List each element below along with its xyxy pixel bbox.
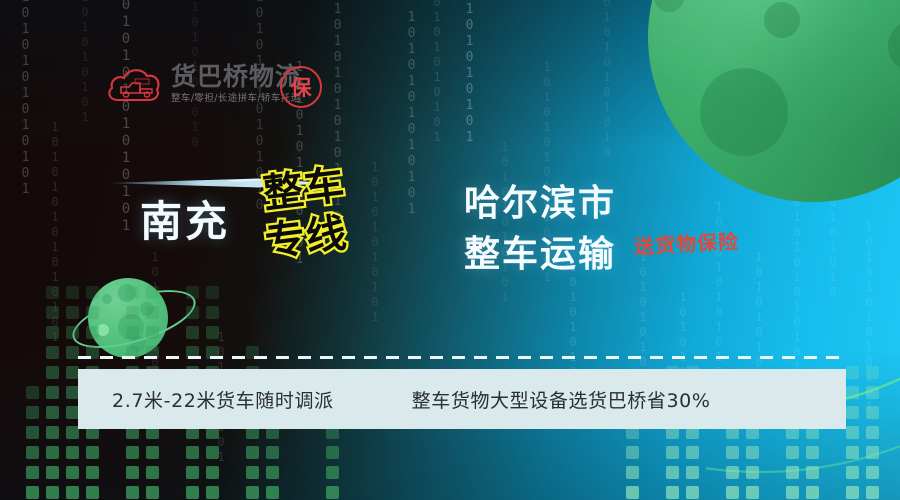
- destination-city: 哈尔滨市: [464, 178, 616, 229]
- grid-square: [126, 306, 139, 319]
- grid-square: [866, 366, 879, 379]
- grid-square: [846, 486, 859, 499]
- grid-square: [86, 486, 99, 499]
- route-badge-line2: 专线: [263, 210, 350, 266]
- grid-square: [206, 446, 219, 459]
- grid-square: [46, 486, 59, 499]
- grid-square: [206, 306, 219, 319]
- grid-square: [246, 486, 259, 499]
- insurance-note: 送货物保险: [633, 225, 739, 259]
- grid-square: [126, 446, 139, 459]
- grid-square: [726, 446, 739, 459]
- grid-square: [86, 446, 99, 459]
- grid-square: [726, 486, 739, 499]
- grid-square: [326, 446, 339, 459]
- grid-square: [786, 486, 799, 499]
- grid-square: [66, 446, 79, 459]
- grid-square: [46, 426, 59, 439]
- grid-square: [686, 486, 699, 499]
- grid-square: [66, 486, 79, 499]
- grid-square: [266, 466, 279, 479]
- grid-square: [46, 286, 59, 299]
- grid-square: [86, 326, 99, 339]
- grid-square: [66, 326, 79, 339]
- grid-square: [666, 466, 679, 479]
- destination-service: 整车运输: [464, 229, 616, 280]
- grid-square: [266, 486, 279, 499]
- grid-square: [806, 446, 819, 459]
- grid-square: [866, 426, 879, 439]
- grid-square: [126, 286, 139, 299]
- grid-square: [686, 446, 699, 459]
- grid-square: [846, 406, 859, 419]
- dashed-divider-icon: [78, 356, 846, 359]
- binary-column: 1010101010101: [18, 0, 33, 180]
- grid-square: [46, 446, 59, 459]
- grid-square: [866, 486, 879, 499]
- grid-square: [26, 406, 39, 419]
- grid-square: [846, 366, 859, 379]
- grid-square: [186, 446, 199, 459]
- grid-square: [26, 446, 39, 459]
- grid-square: [26, 386, 39, 399]
- grid-square: [806, 486, 819, 499]
- grid-square: [26, 486, 39, 499]
- grid-square: [186, 486, 199, 499]
- grid-square: [846, 426, 859, 439]
- grid-square: [146, 306, 159, 319]
- poster-canvas: 1010101010101101010101010101101010101011…: [0, 0, 900, 500]
- grid-square: [186, 466, 199, 479]
- grid-square: [786, 446, 799, 459]
- grid-square: [186, 286, 199, 299]
- grid-square: [126, 486, 139, 499]
- grid-square: [66, 306, 79, 319]
- grid-square: [806, 466, 819, 479]
- grid-square: [246, 446, 259, 459]
- brand-logo[interactable]: 货巴桥物流 整车/零担/长途拼车/轿车托运: [104, 60, 301, 108]
- grid-square: [146, 446, 159, 459]
- grid-square: [206, 326, 219, 339]
- grid-square: [866, 386, 879, 399]
- grid-square: [66, 466, 79, 479]
- grid-square: [866, 406, 879, 419]
- grid-square: [46, 346, 59, 359]
- grid-square: [206, 486, 219, 499]
- grid-square: [866, 446, 879, 459]
- grid-square: [46, 306, 59, 319]
- grid-square: [206, 466, 219, 479]
- cloud-truck-icon: [104, 60, 162, 108]
- grid-square: [186, 326, 199, 339]
- grid-square: [746, 446, 759, 459]
- grid-square: [746, 486, 759, 499]
- bottom-bar-left-text: 2.7米-22米货车随时调派: [112, 386, 334, 413]
- binary-column: 10101010101: [78, 0, 92, 110]
- origin-city: 南充: [140, 188, 230, 249]
- grid-square: [146, 486, 159, 499]
- route-badge-line1: 整车: [261, 162, 348, 218]
- grid-square: [786, 466, 799, 479]
- route-type-badge: 整车 专线: [252, 156, 373, 269]
- grid-square: [66, 286, 79, 299]
- grid-square: [146, 326, 159, 339]
- grid-square: [46, 406, 59, 419]
- grid-square: [726, 466, 739, 479]
- grid-square: [186, 306, 199, 319]
- grid-square: [146, 286, 159, 299]
- grid-square: [26, 426, 39, 439]
- grid-square: [26, 466, 39, 479]
- grid-square: [626, 466, 639, 479]
- grid-square: [126, 326, 139, 339]
- grid-square: [626, 486, 639, 499]
- grid-square: [86, 466, 99, 479]
- grid-square: [666, 446, 679, 459]
- grid-square: [746, 466, 759, 479]
- grid-square: [86, 286, 99, 299]
- grid-square: [86, 306, 99, 319]
- grid-square: [846, 446, 859, 459]
- grid-square: [46, 326, 59, 339]
- grid-square: [846, 466, 859, 479]
- bottom-info-bar: 2.7米-22米货车随时调派 整车货物大型设备选货巴桥省30%: [78, 369, 846, 429]
- grid-square: [666, 486, 679, 499]
- grid-square: [866, 466, 879, 479]
- grid-square: [626, 446, 639, 459]
- grid-square: [46, 366, 59, 379]
- grid-square: [46, 466, 59, 479]
- grid-square: [326, 466, 339, 479]
- grid-square: [146, 466, 159, 479]
- grid-square: [326, 486, 339, 499]
- grid-square: [206, 286, 219, 299]
- destination-block: 哈尔滨市 整车运输: [464, 178, 616, 280]
- grid-square: [126, 466, 139, 479]
- grid-square: [46, 386, 59, 399]
- grid-square: [246, 466, 259, 479]
- grid-square: [266, 446, 279, 459]
- grid-square: [846, 386, 859, 399]
- insurance-seal-icon: 保: [280, 66, 322, 108]
- bottom-bar-right-text: 整车货物大型设备选货巴桥省30%: [412, 386, 711, 413]
- grid-square: [686, 466, 699, 479]
